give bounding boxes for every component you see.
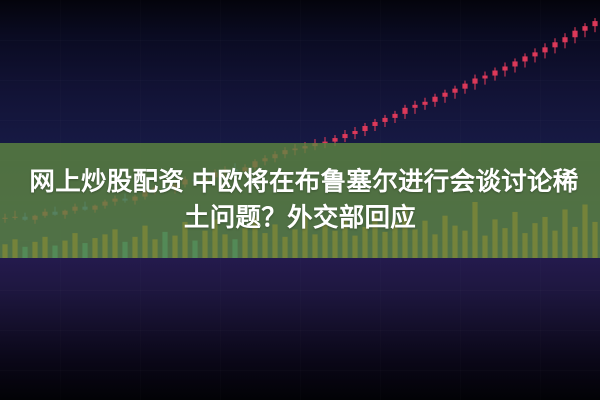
headline-line-2: 土问题？外交部回应: [184, 204, 416, 234]
chart-stock-banner: 网上炒股配资 中欧将在布鲁塞尔进行会谈讨论稀 土问题？外交部回应: [0, 0, 600, 400]
headline-line-1: 网上炒股配资 中欧将在布鲁塞尔进行会谈讨论稀: [21, 168, 578, 198]
headline-text-block: 网上炒股配资 中欧将在布鲁塞尔进行会谈讨论稀 土问题？外交部回应: [0, 143, 600, 258]
